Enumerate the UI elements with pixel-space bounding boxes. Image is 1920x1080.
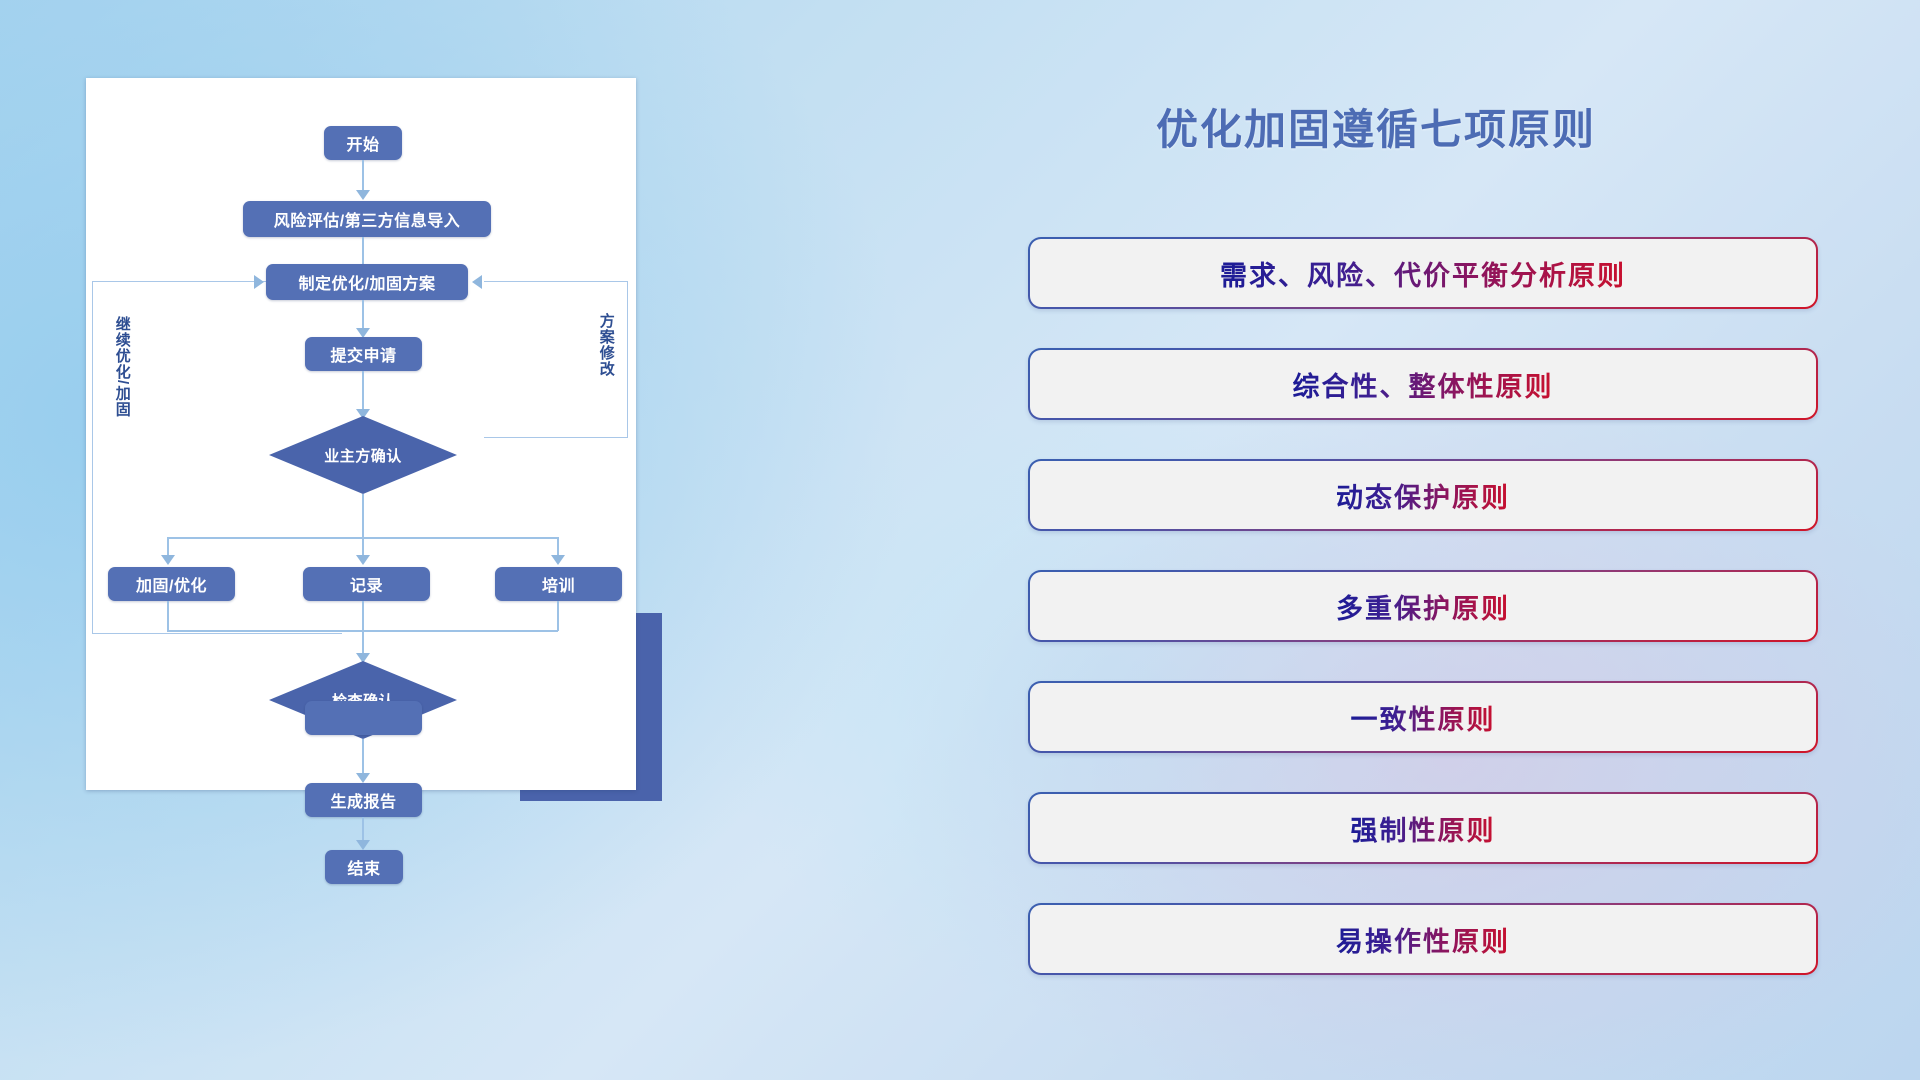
slide-canvas: 开始 风险评估/第三方信息导入 制定优化/加固方案 提交申请 业主 xyxy=(0,0,1920,1080)
principle-card-6-label: 强制性原则 xyxy=(1351,809,1496,848)
principle-card-7-label: 易操作性原则 xyxy=(1336,920,1510,959)
principle-card-2-label: 综合性、整体性原则 xyxy=(1293,365,1554,404)
principle-card-2[interactable]: 综合性、整体性原则 xyxy=(1028,348,1818,420)
arrow-check-to-report xyxy=(356,773,370,783)
arrow-to-training xyxy=(551,555,565,565)
principle-card-3-label: 动态保护原则 xyxy=(1336,476,1510,515)
node-reinforce[interactable]: 加固/优化 xyxy=(108,567,235,601)
principle-card-1[interactable]: 需求、风险、代价平衡分析原则 xyxy=(1028,237,1818,309)
node-submit-label: 提交申请 xyxy=(330,342,396,366)
principle-card-3[interactable]: 动态保护原则 xyxy=(1028,459,1818,531)
node-report[interactable] xyxy=(305,701,422,735)
node-reinforce-label: 加固/优化 xyxy=(136,572,207,596)
arrow-to-reinforce xyxy=(161,555,175,565)
diamond-shape xyxy=(269,416,457,494)
principle-card-5-label: 一致性原则 xyxy=(1351,698,1496,737)
arrow-start-to-risk xyxy=(356,190,370,200)
page-title: 优化加固遵循七项原则 xyxy=(1156,96,1596,157)
node-owner-confirm[interactable]: 业主方确认 xyxy=(269,416,457,494)
principle-card-4-label: 多重保护原则 xyxy=(1336,587,1510,626)
arrow-report-to-end xyxy=(356,840,370,850)
caption-plan-revision: 方案修改 xyxy=(598,313,614,377)
arrow-left-loop-into-plan xyxy=(254,275,264,289)
connector-check-to-report xyxy=(362,739,364,777)
node-record[interactable]: 记录 xyxy=(303,567,430,601)
connector-start-to-risk xyxy=(362,160,364,194)
arrow-to-record xyxy=(356,555,370,565)
principle-card-7[interactable]: 易操作性原则 xyxy=(1028,903,1818,975)
principle-card-5[interactable]: 一致性原则 xyxy=(1028,681,1818,753)
node-start[interactable]: 开始 xyxy=(324,126,402,160)
node-end[interactable]: 结束 xyxy=(325,850,403,884)
principle-card-1-label: 需求、风险、代价平衡分析原则 xyxy=(1220,254,1626,293)
node-report-generate[interactable]: 生成报告 xyxy=(305,783,422,817)
merge-rise-center xyxy=(362,601,364,631)
node-risk-label: 风险评估/第三方信息导入 xyxy=(274,207,460,231)
principle-card-6[interactable]: 强制性原则 xyxy=(1028,792,1818,864)
connector-owner-to-bus xyxy=(362,494,364,538)
node-record-label: 记录 xyxy=(350,572,383,596)
node-submit[interactable]: 提交申请 xyxy=(305,337,422,371)
principle-card-4[interactable]: 多重保护原则 xyxy=(1028,570,1818,642)
node-plan-label: 制定优化/加固方案 xyxy=(299,270,436,294)
node-end-label: 结束 xyxy=(347,855,380,879)
flowchart-panel: 开始 风险评估/第三方信息导入 制定优化/加固方案 提交申请 业主 xyxy=(86,78,636,790)
node-risk-assessment[interactable]: 风险评估/第三方信息导入 xyxy=(243,201,491,237)
node-start-label: 开始 xyxy=(346,131,379,155)
node-plan[interactable]: 制定优化/加固方案 xyxy=(266,264,468,300)
connector-submit-to-owner xyxy=(362,371,364,413)
node-training[interactable]: 培训 xyxy=(495,567,622,601)
merge-rise-left xyxy=(167,601,169,631)
merge-rise-right xyxy=(557,601,559,631)
arrow-right-loop-into-plan xyxy=(472,275,482,289)
node-training-label: 培训 xyxy=(542,572,575,596)
node-report-label: 生成报告 xyxy=(330,788,396,812)
caption-continue-optimize: 继续优化/加固 xyxy=(114,316,130,417)
